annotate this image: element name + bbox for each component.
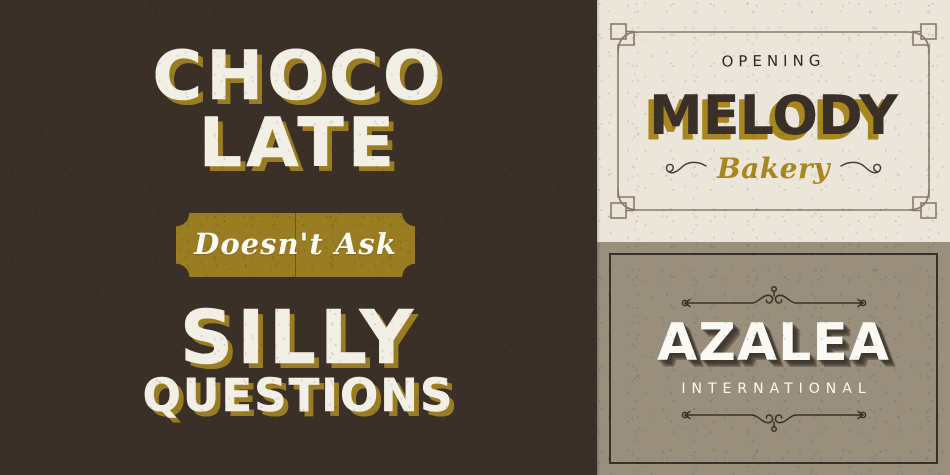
chocolate-panel: CHOCO LATE Doesn't Ask SILLY QUESTIONS (0, 0, 597, 475)
divider-flourish-icon (674, 407, 874, 433)
melody-eyebrow-text: OPENING (597, 50, 950, 71)
melody-subtitle-row: Bakery (597, 152, 950, 185)
divider-flourish-icon (674, 285, 874, 311)
melody-title: MELODY (597, 84, 950, 147)
chocolate-headline-stack: CHOCO LATE (0, 44, 597, 177)
curl-flourish-left-icon (662, 158, 708, 180)
font-specimen-poster: CHOCO LATE Doesn't Ask SILLY QUESTIONS (0, 0, 950, 475)
doesnt-ask-banner: Doesn't Ask (176, 213, 415, 277)
headline-line-late: LATE (0, 111, 597, 176)
melody-subtitle: Bakery (717, 152, 830, 185)
azalea-subtitle: INTERNATIONAL (675, 381, 871, 397)
headline-line-choco: CHOCO (0, 44, 597, 109)
azalea-panel: AZALEA INTERNATIONAL (597, 242, 950, 475)
headline-line-silly: SILLY (0, 303, 597, 374)
melody-panel: OPENING MELODY Bakery (597, 0, 950, 242)
curl-flourish-right-icon (839, 158, 885, 180)
azalea-lockup: AZALEA INTERNATIONAL (597, 242, 950, 475)
banner-script-text: Doesn't Ask (176, 213, 415, 277)
azalea-title: AZALEA (657, 313, 890, 373)
headline-line-questions: QUESTIONS (0, 374, 597, 417)
